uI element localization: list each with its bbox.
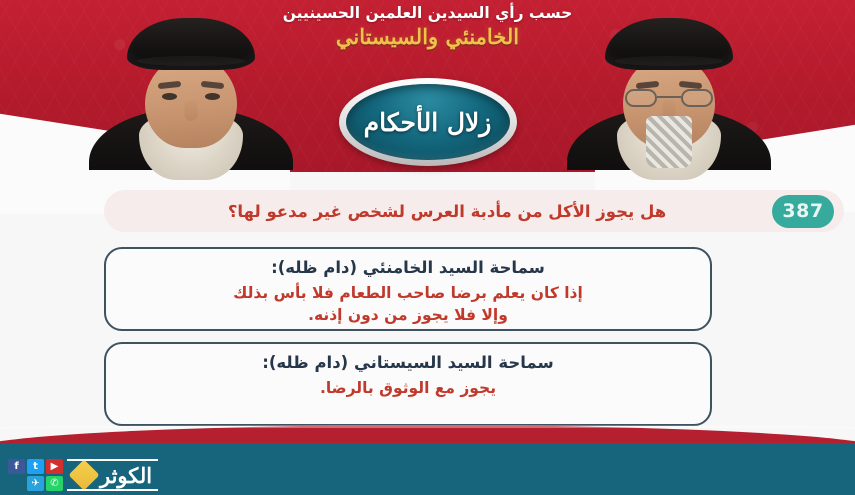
facebook-icon[interactable]: f xyxy=(8,459,25,474)
answer-card-sistani: سماحة السيد السيستاني (دام ظله): يجوز مع… xyxy=(104,342,712,426)
header-title-block: حسب رأي السيدين العلمين الحسينيين الخامن… xyxy=(0,4,855,50)
answer-card-body: إذا كان يعلم برضا صاحب الطعام فلا بأس بذ… xyxy=(122,282,694,327)
twitter-icon[interactable]: t xyxy=(27,459,44,474)
answer-card-title: سماحة السيد الخامنئي (دام ظله): xyxy=(122,258,694,277)
eye-left xyxy=(162,93,177,100)
program-logo-badge: زلال الأحكام xyxy=(339,78,517,166)
eye-right xyxy=(205,93,220,100)
eyebrow-right xyxy=(679,81,703,89)
answer-card-title: سماحة السيد السيستاني (دام ظله): xyxy=(122,353,694,372)
eyebrow-left xyxy=(636,81,660,89)
footer-bar: f t ▶ ✈ ✆ الكوثر xyxy=(0,443,855,495)
channel-logo-text: الكوثر xyxy=(100,465,152,486)
question-bar: 387 هل يجوز الأكل من مأدبة العرس لشخص غي… xyxy=(104,190,844,232)
social-spacer xyxy=(8,476,25,491)
scarf-shape xyxy=(646,116,692,168)
poster-root: حسب رأي السيدين العلمين الحسينيين الخامن… xyxy=(0,0,855,495)
page-title: حسب رأي السيدين العلمين الحسينيين xyxy=(0,4,855,23)
question-text: هل يجوز الأكل من مأدبة العرس لشخص غير مد… xyxy=(122,202,772,221)
answer-card-body: يجوز مع الوثوق بالرضا. xyxy=(122,377,694,399)
page-subtitle-calligraphy: الخامنئي والسيستاني xyxy=(0,25,855,49)
eyebrow-right xyxy=(201,81,225,89)
whatsapp-icon[interactable]: ✆ xyxy=(46,476,63,491)
telegram-icon[interactable]: ✈ xyxy=(27,476,44,491)
youtube-icon[interactable]: ▶ xyxy=(46,459,63,474)
question-number-badge: 387 xyxy=(772,195,834,228)
footer-brand: f t ▶ ✈ ✆ الكوثر xyxy=(8,459,158,491)
badge-inner-oval: زلال الأحكام xyxy=(346,84,510,160)
nose-shape xyxy=(185,100,198,121)
answer-line: وإلا فلا يجوز من دون إذنه. xyxy=(122,304,694,326)
answer-card-khamenei: سماحة السيد الخامنئي (دام ظله): إذا كان … xyxy=(104,247,712,331)
glasses-icon xyxy=(625,89,713,107)
answer-line: إذا كان يعلم برضا صاحب الطعام فلا بأس بذ… xyxy=(122,282,694,304)
social-links: f t ▶ ✈ ✆ xyxy=(8,459,63,491)
channel-logo[interactable]: الكوثر xyxy=(67,459,158,491)
badge-label: زلال الأحكام xyxy=(364,110,492,135)
eyebrow-left xyxy=(158,81,182,89)
answer-line: يجوز مع الوثوق بالرضا. xyxy=(122,377,694,399)
diamond-icon xyxy=(68,459,99,490)
